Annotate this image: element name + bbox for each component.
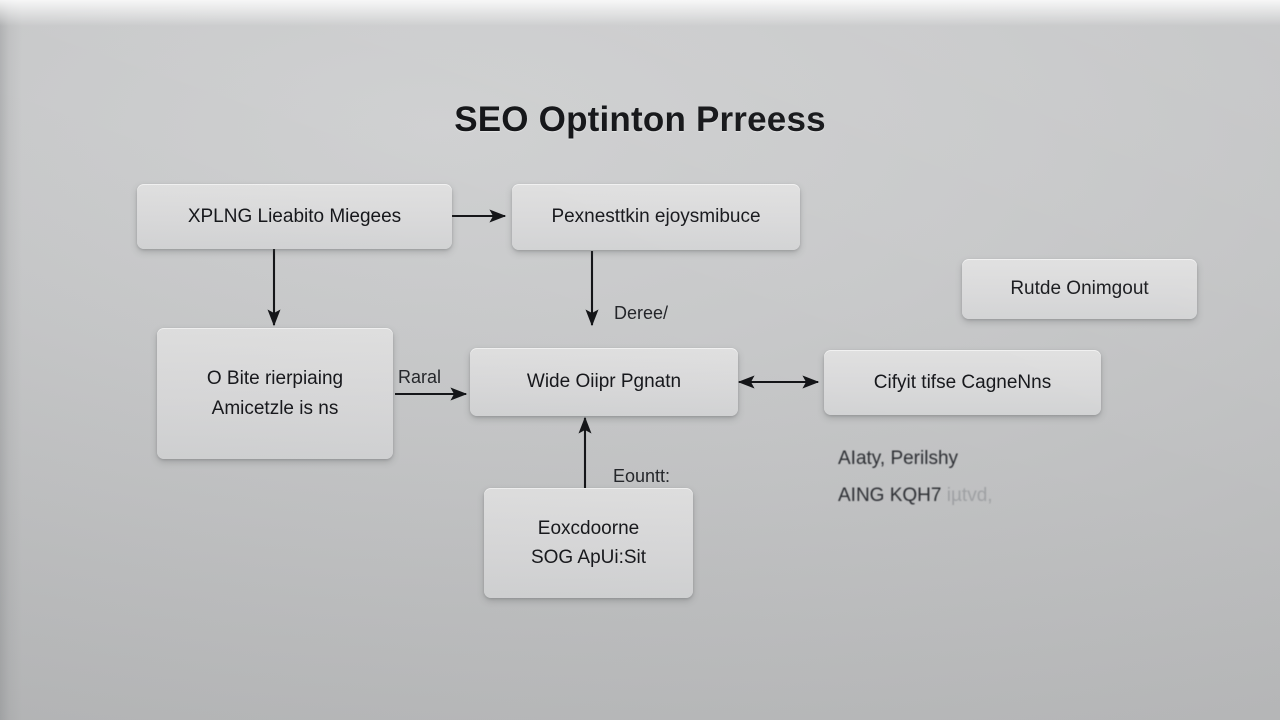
floating-note-line-1: AIaty, Perilshy	[838, 440, 993, 477]
node-onpage-line-2: Amicetzle is ns	[212, 394, 339, 423]
node-audit-line-1: Rutde Onimgout	[1010, 274, 1148, 303]
floating-note-line-2: AING KQH7 iµtvd,	[838, 477, 993, 514]
floating-note-line-2-dark: AING KQH7	[838, 485, 941, 506]
floating-note: AIaty, Perilshy AING KQH7 iµtvd,	[838, 440, 993, 514]
node-keywords[interactable]: XPLNG Lieabito Miegees	[137, 184, 452, 249]
node-keywords-line-1: XPLNG Lieabito Miegees	[188, 202, 401, 231]
edge-label-eountt: Eountt:	[613, 466, 670, 487]
node-report-line-1: Eoxcdoorne	[538, 514, 639, 543]
diagram-canvas: SEO Optinton Prreess XPLNG Lieabito Mieg…	[0, 0, 1280, 720]
node-onpage-line-1: O Bite rierpiaing	[207, 364, 343, 393]
node-campaigns-line-1: Cifyit tifse CagneNns	[874, 368, 1051, 397]
edge-label-raral: Raral	[398, 367, 441, 388]
node-campaigns[interactable]: Cifyit tifse CagneNns	[824, 350, 1101, 415]
node-onpage[interactable]: O Bite rierpiaing Amicetzle is ns	[157, 328, 393, 459]
floating-note-line-2-faded: iµtvd,	[941, 485, 992, 506]
node-report[interactable]: Eoxcdoorne SOG ApUi:Sit	[484, 488, 693, 598]
node-research[interactable]: Pexnesttkin ejoysmibuce	[512, 184, 800, 250]
node-research-line-1: Pexnesttkin ejoysmibuce	[551, 202, 760, 231]
edge-label-deree: Deree/	[614, 303, 668, 324]
node-report-line-2: SOG ApUi:Sit	[531, 543, 646, 572]
node-audit[interactable]: Rutde Onimgout	[962, 259, 1197, 319]
node-content-line-1: Wide Oiipr Pgnatn	[527, 367, 681, 396]
node-content[interactable]: Wide Oiipr Pgnatn	[470, 348, 738, 416]
